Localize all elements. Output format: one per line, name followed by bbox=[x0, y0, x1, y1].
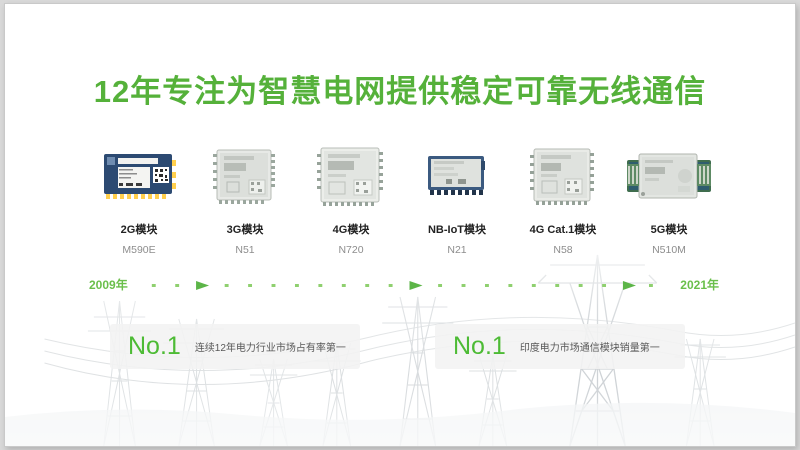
product-image-4g bbox=[316, 140, 386, 212]
product-name: NB-IoT模块 bbox=[428, 221, 486, 237]
product-model: M590E bbox=[122, 244, 155, 256]
product-image-4g-cat1 bbox=[529, 140, 597, 212]
timeline-start-year: 2009年 bbox=[89, 276, 128, 293]
badge-rank: No.1 bbox=[128, 334, 181, 359]
product-model: N510M bbox=[652, 244, 686, 256]
achievement-badge-india-sales: No.1 印度电力市场通信模块销量第一 bbox=[435, 324, 685, 369]
product-card-4g[interactable]: 4G模块 N720 bbox=[301, 140, 401, 256]
slide-canvas: 12年专注为智慧电网提供稳定可靠无线通信 bbox=[4, 3, 796, 447]
product-model: N720 bbox=[338, 244, 363, 256]
product-name: 3G模块 bbox=[227, 221, 264, 237]
product-model: N58 bbox=[553, 244, 572, 256]
product-name: 4G模块 bbox=[333, 221, 370, 237]
product-image-nbiot bbox=[424, 140, 490, 212]
product-name: 5G模块 bbox=[651, 221, 688, 237]
product-card-4g-cat1[interactable]: 4G Cat.1模块 N58 bbox=[513, 140, 613, 256]
product-image-3g bbox=[213, 140, 277, 212]
product-image-2g bbox=[100, 140, 178, 212]
product-card-3g[interactable]: 3G模块 N51 bbox=[195, 140, 295, 256]
timeline-end-year: 2021年 bbox=[680, 276, 719, 293]
badge-description: 连续12年电力行业市场占有率第一 bbox=[195, 339, 346, 354]
product-card-5g[interactable]: 5G模块 N510M bbox=[619, 140, 719, 256]
badge-description: 印度电力市场通信模块销量第一 bbox=[520, 339, 660, 354]
product-card-nbiot[interactable]: NB-IoT模块 N21 bbox=[407, 140, 507, 256]
page-title: 12年专注为智慧电网提供稳定可靠无线通信 bbox=[5, 66, 795, 111]
timeline-track bbox=[144, 278, 665, 290]
product-model: N51 bbox=[235, 244, 254, 256]
product-lineup: 2G模块 M590E bbox=[89, 140, 719, 256]
product-card-2g[interactable]: 2G模块 M590E bbox=[89, 140, 189, 256]
badge-rank: No.1 bbox=[453, 334, 506, 359]
timeline: 2009年 bbox=[89, 275, 719, 293]
achievement-badge-market-share: No.1 连续12年电力行业市场占有率第一 bbox=[110, 324, 360, 369]
product-image-5g bbox=[623, 140, 715, 212]
product-name: 4G Cat.1模块 bbox=[530, 221, 597, 237]
product-model: N21 bbox=[447, 244, 466, 256]
product-name: 2G模块 bbox=[121, 221, 158, 237]
